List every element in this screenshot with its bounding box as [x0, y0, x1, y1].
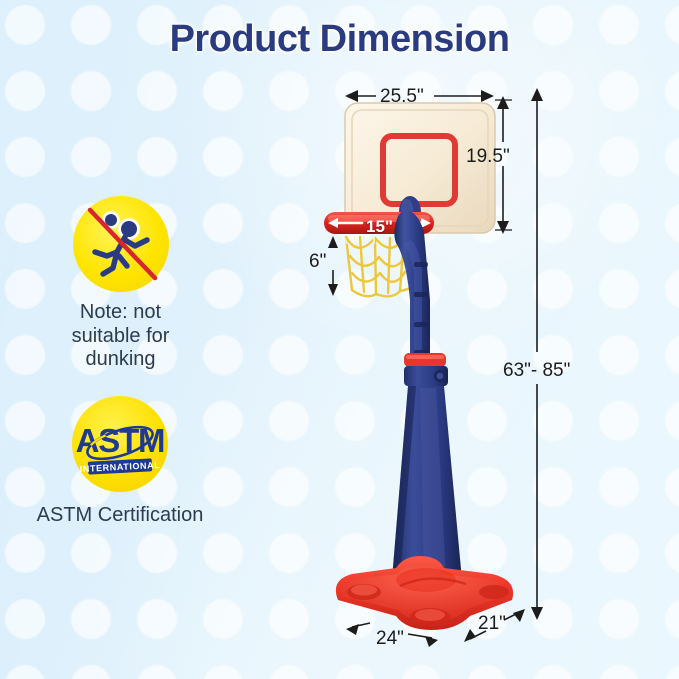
badge-no-dunking: Note: not suitable for dunking [18, 196, 223, 372]
badge-astm-caption: ASTM Certification [14, 504, 226, 528]
height-adjust-collar [404, 353, 448, 386]
dimension-base-width: 21" [478, 613, 506, 635]
product-dimension-infographic: Product Dimension [0, 0, 679, 679]
caption-line-3: dunking [18, 348, 223, 372]
dimension-base-depth: 24" [376, 628, 404, 650]
backboard-mount [399, 196, 421, 228]
dimension-total-height: 63"- 85" [503, 360, 570, 382]
dimension-rim-width: 15" [366, 217, 393, 237]
caption-line-1: Note: not [18, 301, 223, 325]
net-top-strings [344, 236, 414, 244]
lower-pole [392, 386, 462, 580]
no-dunking-icon [73, 196, 169, 292]
backboard [345, 103, 495, 233]
badge-astm-certification: ASTM INTERNATIONAL ASTM Certification [14, 396, 226, 528]
page-title: Product Dimension [0, 18, 679, 61]
badge-no-dunking-caption: Note: not suitable for dunking [18, 301, 223, 372]
upper-pole [394, 209, 430, 367]
basketball-net [346, 236, 416, 296]
dimension-net-depth: 6" [309, 251, 326, 273]
dimension-backboard-height: 19.5" [466, 146, 510, 168]
astm-logo-icon: ASTM INTERNATIONAL [72, 396, 168, 492]
dimension-backboard-width: 25.5" [380, 86, 424, 108]
caption-line-2: suitable for [18, 325, 223, 349]
